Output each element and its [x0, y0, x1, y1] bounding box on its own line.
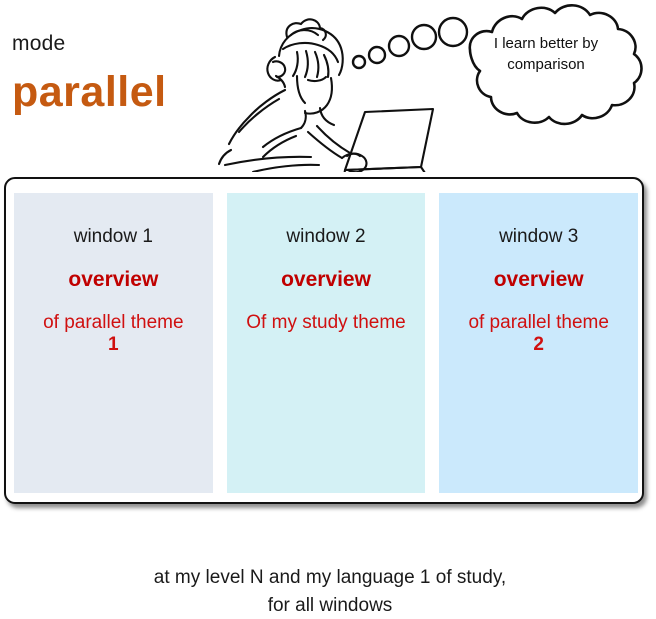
- window-3-subtitle-text: of parallel theme: [468, 312, 608, 333]
- footer-note: at my level N and my language 1 of study…: [10, 564, 650, 619]
- window-1-subtitle-text: of parallel theme: [43, 312, 183, 333]
- window-2-subtitle: Of my study theme: [227, 312, 426, 334]
- footer-note-line-2: for all windows: [10, 592, 650, 619]
- window-3-number: 2: [439, 334, 638, 356]
- window-2-subtitle-text: Of my study theme: [246, 312, 405, 333]
- window-column-3[interactable]: window 3 overview of parallel theme 2: [439, 193, 638, 493]
- window-2-title: window 2: [227, 227, 426, 246]
- window-3-title: window 3: [439, 227, 638, 246]
- window-column-1[interactable]: window 1 overview of parallel theme 1: [14, 193, 213, 493]
- window-1-overview-label: overview: [14, 269, 213, 290]
- window-3-overview-label: overview: [439, 269, 638, 290]
- window-column-2[interactable]: window 2 overview Of my study theme: [227, 193, 426, 493]
- windows-card: window 1 overview of parallel theme 1 wi…: [4, 177, 644, 504]
- window-1-number: 1: [14, 334, 213, 356]
- window-3-subtitle: of parallel theme 2: [439, 312, 638, 357]
- windows-columns-row: window 1 overview of parallel theme 1 wi…: [14, 193, 638, 493]
- window-1-title: window 1: [14, 227, 213, 246]
- window-1-subtitle: of parallel theme 1: [14, 312, 213, 357]
- footer-note-line-1: at my level N and my language 1 of study…: [10, 564, 650, 592]
- mode-label: mode: [12, 33, 65, 54]
- page-title-mode-name: parallel: [12, 71, 167, 114]
- header-area: mode parallel: [0, 0, 656, 176]
- thought-bubble-text: I learn better by comparison: [478, 33, 614, 76]
- window-2-overview-label: overview: [227, 269, 426, 290]
